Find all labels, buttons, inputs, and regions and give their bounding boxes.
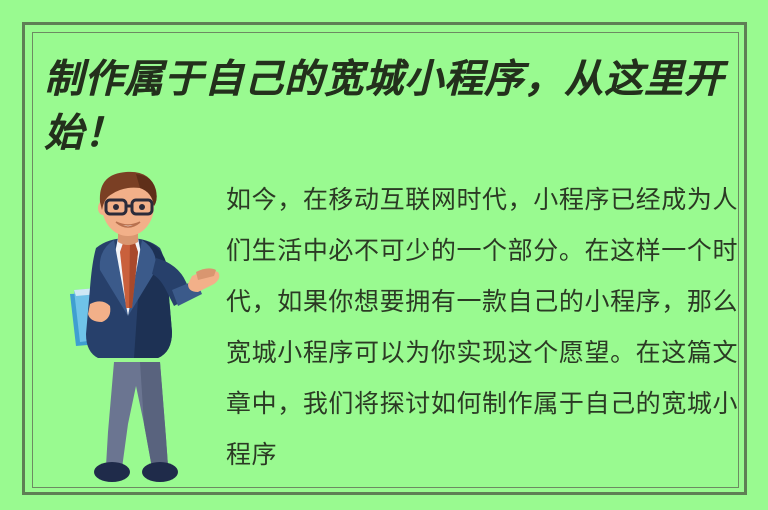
- trousers-shadow: [140, 362, 168, 468]
- eye-right: [139, 204, 145, 210]
- page-title: 制作属于自己的宽城小程序，从这里开 始！: [44, 52, 744, 160]
- shoe-right: [142, 462, 178, 482]
- poster-canvas: 制作属于自己的宽城小程序，从这里开 始！ 如今，在移动互联网时代，小程序已经成为…: [0, 0, 768, 510]
- body-paragraph: 如今，在移动互联网时代，小程序已经成为人们生活中必不可少的一个部分。在这样一个时…: [226, 174, 738, 480]
- shoe-left: [94, 462, 130, 482]
- businessman-illustration: [56, 166, 222, 488]
- eye-left: [113, 204, 119, 210]
